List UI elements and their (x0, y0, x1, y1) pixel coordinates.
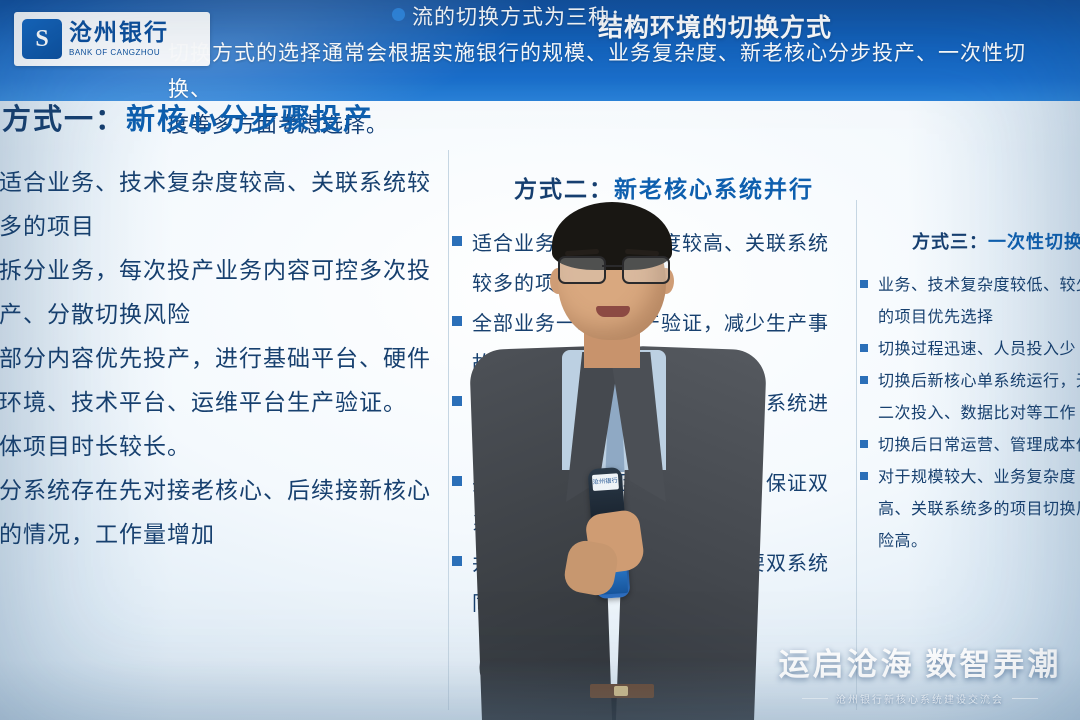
divider-right (1012, 698, 1038, 699)
column-1-title: 方式一：新核心分步骤投产 (0, 96, 448, 138)
bullet-square-icon (452, 556, 462, 566)
bullet-text: 切换后日常运营、管理成本低 (878, 430, 1080, 462)
bank-logo-name-cn: 沧州银行 (69, 21, 169, 44)
bullet-text: 体项目时长较长。 (0, 424, 448, 468)
column-3-title-value: 一次性切换 (988, 232, 1080, 252)
bullet-square-icon (452, 476, 462, 486)
event-subtitle-row: 沧州银行新核心系统建设交流会 (770, 691, 1070, 706)
list-item: 适合业务、技术复杂度较高、关联系统较多的项目 (0, 160, 448, 248)
column-1-title-value: 新核心分步骤投产 (126, 104, 374, 136)
column-1-bullets: 适合业务、技术复杂度较高、关联系统较多的项目 拆分业务，每次投产业务内容可控多次… (0, 160, 448, 556)
column-1-title-key: 方式一： (2, 104, 126, 136)
glasses-bridge (602, 265, 622, 267)
intro-line-1: 流的切换方式为三种： (168, 0, 1068, 36)
bullet-text: 切换后新核心单系统运行，无二次投入、数据比对等工作 (878, 366, 1080, 430)
bullet-square-icon (860, 440, 868, 448)
bullet-square-icon (860, 344, 868, 352)
bank-logo: S 沧州银行 BANK OF CANGZHOU (14, 12, 210, 66)
speaker-mouth (596, 306, 630, 317)
microphone-label: 沧州银行 (592, 473, 619, 491)
list-item: 切换过程迅速、人员投入少 (860, 334, 1080, 366)
bullet-text: 部分内容优先投产，进行基础平台、硬件环境、技术平台、运维平台生产验证。 (0, 336, 448, 424)
bullet-square-icon (452, 316, 462, 326)
glasses-lens-right (622, 256, 670, 284)
speaker-figure: 沧州银行 (470, 190, 770, 720)
bank-logo-name-en: BANK OF CANGZHOU (69, 48, 169, 57)
bank-logo-mark: S (22, 19, 62, 59)
divider-left (802, 698, 828, 699)
speaker-glasses (556, 256, 670, 282)
bullet-text: 分系统存在先对接老核心、后续接新核心的情况，工作量增加 (0, 468, 448, 556)
bullet-text: 业务、技术复杂度较低、较少的项目优先选择 (878, 270, 1080, 334)
list-item: 分系统存在先对接老核心、后续接新核心的情况，工作量增加 (0, 468, 448, 556)
column-divider-2 (856, 200, 857, 710)
bullet-text: 适合业务、技术复杂度较高、关联系统较多的项目 (0, 160, 448, 248)
list-item: 切换后新核心单系统运行，无二次投入、数据比对等工作 (860, 366, 1080, 430)
bullet-square-icon (452, 396, 462, 406)
event-slogan: 运启沧海 数智弄潮 (770, 639, 1070, 684)
list-item: 部分内容优先投产，进行基础平台、硬件环境、技术平台、运维平台生产验证。 (0, 336, 448, 424)
slide-column-1: 方式一：新核心分步骤投产 适合业务、技术复杂度较高、关联系统较多的项目 拆分业务… (0, 96, 448, 556)
slide-column-3: 方式三：一次性切换 业务、技术复杂度较低、较少的项目优先选择 切换过程迅速、人员… (860, 228, 1080, 558)
column-divider-1 (448, 150, 449, 710)
bullet-text: 切换过程迅速、人员投入少 (878, 334, 1080, 366)
list-item: 拆分业务，每次投产业务内容可控多次投产、分散切换风险 (0, 248, 448, 336)
list-item: 切换后日常运营、管理成本低 (860, 430, 1080, 462)
conference-photo: 结构环境的切换方式 流的切换方式为三种： 切换方式的选择通常会根据实施银行的规模… (0, 0, 1080, 720)
column-3-bullets: 业务、技术复杂度较低、较少的项目优先选择 切换过程迅速、人员投入少 切换后新核心… (860, 270, 1080, 558)
column-3-title: 方式三：一次性切换 (860, 228, 1080, 254)
event-branding: 运启沧海 数智弄潮 沧州银行新核心系统建设交流会 (770, 639, 1070, 706)
list-item: 对于规模较大、业务复杂度高、关联系统多的项目切换风险高。 (860, 462, 1080, 558)
bullet-square-icon (452, 236, 462, 246)
event-subtitle: 沧州银行新核心系统建设交流会 (836, 691, 1004, 706)
bullet-text: 对于规模较大、业务复杂度高、关联系统多的项目切换风险高。 (878, 462, 1080, 558)
bullet-text: 拆分业务，每次投产业务内容可控多次投产、分散切换风险 (0, 248, 448, 336)
list-item: 业务、技术复杂度较低、较少的项目优先选择 (860, 270, 1080, 334)
list-item: 体项目时长较长。 (0, 424, 448, 468)
bullet-square-icon (860, 472, 868, 480)
glasses-lens-left (558, 256, 606, 284)
bullet-square-icon (860, 280, 868, 288)
column-3-title-key: 方式三： (912, 232, 988, 252)
bullet-square-icon (860, 376, 868, 384)
